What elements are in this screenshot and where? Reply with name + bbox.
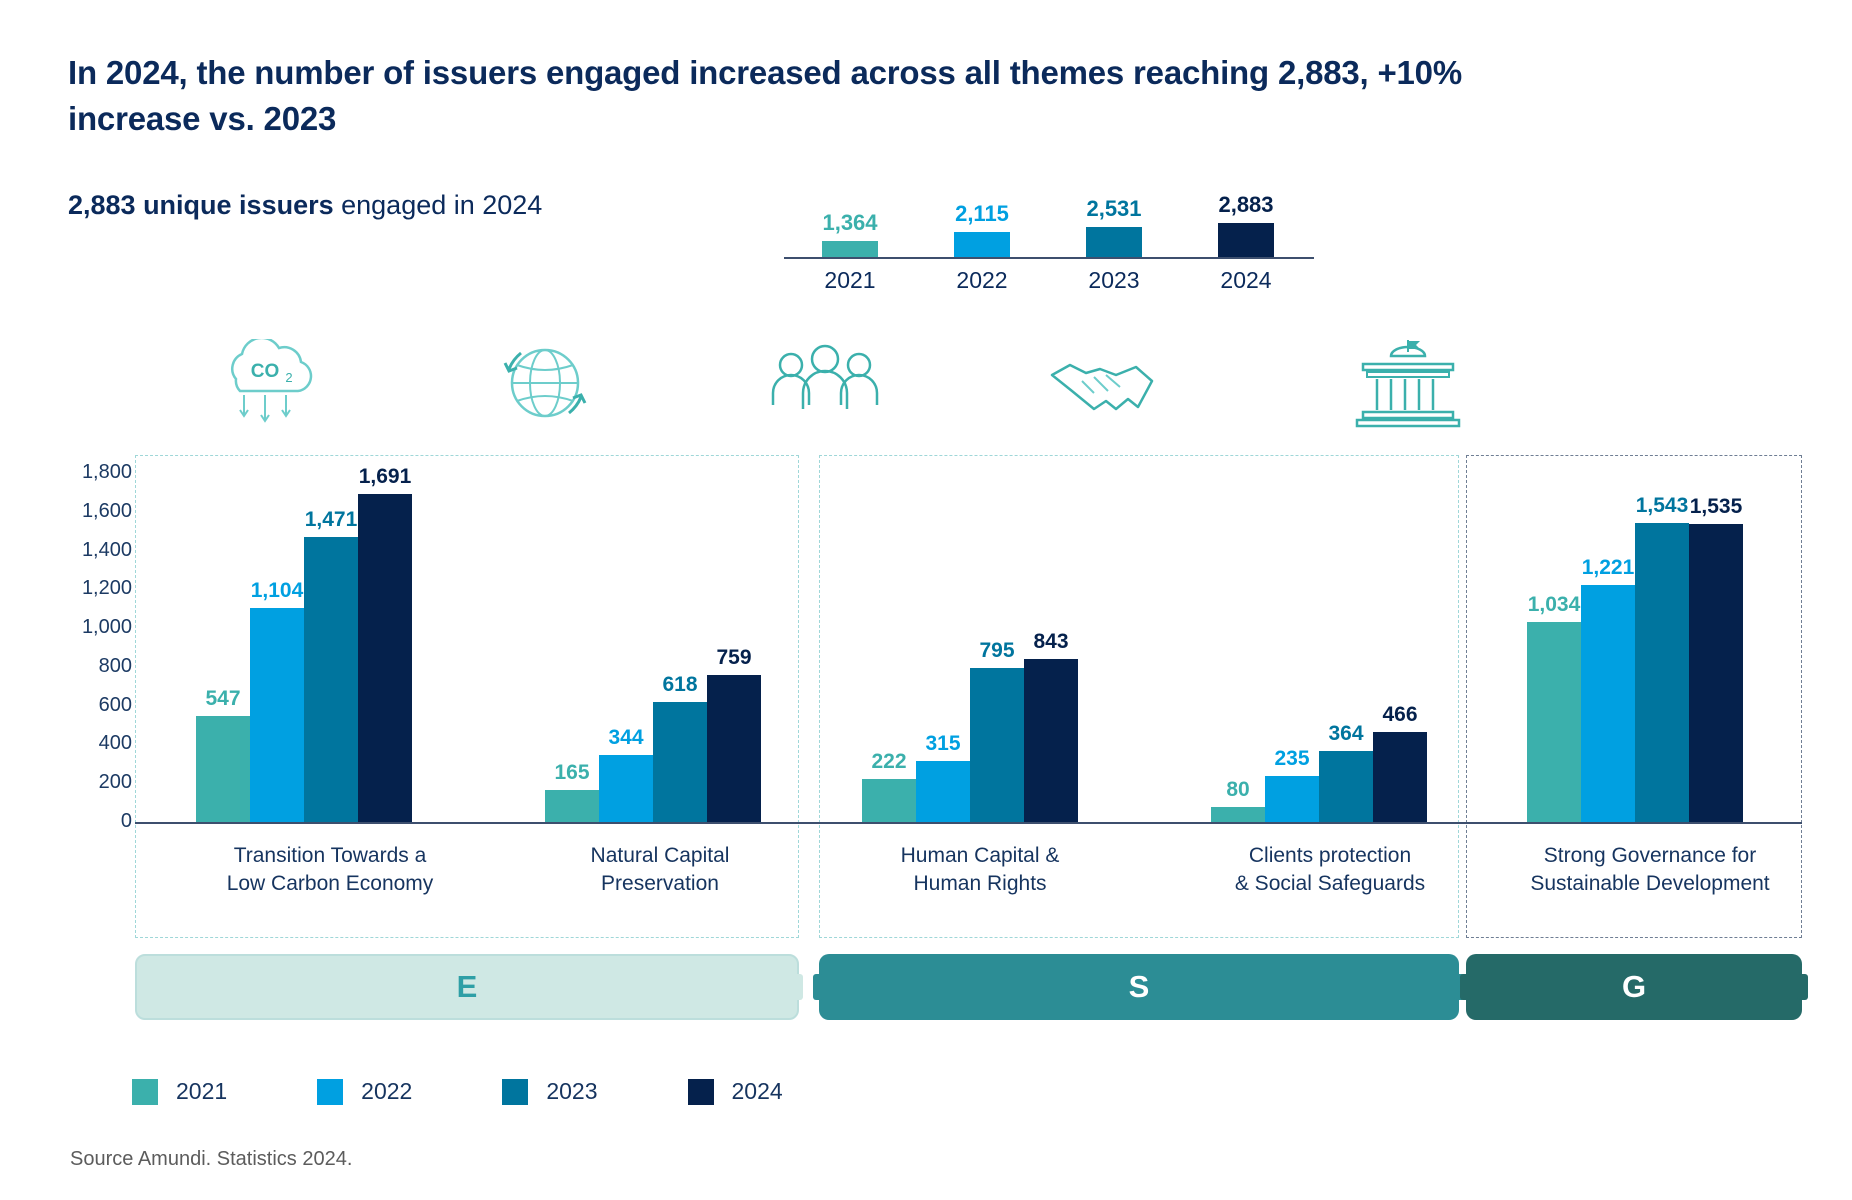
- mini-trend-chart: 1,36420212,11520222,53120232,8832024: [784, 185, 1314, 275]
- bar-value-label: 759: [716, 646, 751, 670]
- bar: [916, 761, 970, 822]
- mini-chart-axis: [784, 257, 1314, 259]
- people-group-icon: [765, 338, 885, 428]
- bar: [1265, 776, 1319, 822]
- mini-value-label: 1,364: [822, 210, 877, 236]
- mini-bar: [822, 241, 878, 257]
- bar-value-label: 1,034: [1528, 593, 1581, 617]
- category-label: Strong Governance forSustainable Develop…: [1490, 842, 1810, 899]
- bar-value-label: 344: [608, 726, 643, 750]
- bar-value-label: 1,535: [1690, 495, 1743, 519]
- handshake-icon: [1042, 338, 1162, 428]
- subtitle-highlight: 2,883 unique issuers: [68, 190, 334, 220]
- mini-year-label: 2022: [916, 267, 1048, 294]
- category-label-line: Human Rights: [820, 870, 1140, 898]
- mini-bar: [954, 232, 1010, 257]
- bar-value-label: 843: [1033, 630, 1068, 654]
- mini-col-2021: 1,364: [784, 185, 916, 257]
- banner-letter-g: G: [1622, 969, 1646, 1005]
- bar-item: 466: [1373, 703, 1427, 822]
- theme-icon-row: CO 2: [0, 338, 1852, 428]
- bar: [1024, 659, 1078, 822]
- y-tick-label: 1,600: [54, 500, 132, 523]
- mini-year-label: 2023: [1048, 267, 1180, 294]
- bar-item: 1,471: [304, 508, 358, 822]
- legend-swatch: [317, 1079, 343, 1105]
- bar: [196, 716, 250, 822]
- bar-item: 1,543: [1635, 494, 1689, 822]
- category-label-line: Clients protection: [1170, 842, 1490, 870]
- bar-item: 1,221: [1581, 556, 1635, 822]
- bar-value-label: 1,221: [1582, 556, 1635, 580]
- y-tick-label: 1,800: [54, 461, 132, 484]
- banner-notch-left: [1460, 974, 1471, 1000]
- bar: [970, 668, 1024, 822]
- y-tick-label: 1,200: [54, 577, 132, 600]
- banner-notch-left: [813, 974, 824, 1000]
- bar: [1211, 807, 1265, 823]
- bar-item: 795: [970, 639, 1024, 822]
- banner-letter-e: E: [457, 969, 478, 1005]
- category-label-line: Strong Governance for: [1490, 842, 1810, 870]
- banner-social: S: [819, 954, 1459, 1020]
- svg-text:CO: CO: [251, 361, 280, 382]
- y-tick-label: 600: [54, 694, 132, 717]
- mini-bar: [1218, 223, 1274, 257]
- y-tick-label: 400: [54, 732, 132, 755]
- bar-value-label: 1,691: [359, 465, 412, 489]
- bar-value-label: 1,104: [251, 579, 304, 603]
- bar: [653, 702, 707, 822]
- bar: [1319, 751, 1373, 822]
- bar-item: 80: [1211, 778, 1265, 823]
- bar-value-label: 547: [205, 687, 240, 711]
- mini-year-label: 2021: [784, 267, 916, 294]
- bar-value-label: 165: [554, 761, 589, 785]
- bar-value-label: 315: [925, 732, 960, 756]
- category-label-line: Preservation: [500, 870, 820, 898]
- bar-value-label: 795: [979, 639, 1014, 663]
- bar-value-label: 618: [662, 673, 697, 697]
- y-tick-label: 0: [54, 810, 132, 833]
- legend-item-2022[interactable]: 2022: [317, 1078, 412, 1105]
- svg-text:2: 2: [285, 370, 292, 385]
- legend-item-2024[interactable]: 2024: [688, 1078, 783, 1105]
- bar: [1527, 622, 1581, 822]
- page-title: In 2024, the number of issuers engaged i…: [68, 50, 1568, 141]
- legend-item-2021[interactable]: 2021: [132, 1078, 227, 1105]
- category-label: Natural CapitalPreservation: [500, 842, 820, 899]
- bar: [599, 755, 653, 822]
- legend-label: 2022: [361, 1078, 412, 1105]
- co2-cloud-icon: CO 2: [205, 338, 325, 428]
- bar-item: 165: [545, 761, 599, 822]
- bar: [358, 494, 412, 822]
- source-note: Source Amundi. Statistics 2024.: [70, 1148, 352, 1171]
- banner-letter-s: S: [1129, 969, 1150, 1005]
- banner-governance: G: [1466, 954, 1802, 1020]
- category-label-line: Natural Capital: [500, 842, 820, 870]
- bar: [1373, 732, 1427, 822]
- bar-value-label: 1,471: [305, 508, 358, 532]
- y-tick-label: 200: [54, 771, 132, 794]
- category-label-line: Transition Towards a: [150, 842, 510, 870]
- bar-item: 547: [196, 687, 250, 822]
- bar: [304, 537, 358, 822]
- chart-legend: 2021202220232024: [132, 1078, 873, 1105]
- bar-value-label: 466: [1382, 703, 1417, 727]
- bar-item: 364: [1319, 722, 1373, 822]
- bar-item: 1,691: [358, 465, 412, 822]
- bar-item: 1,034: [1527, 593, 1581, 822]
- chart-page: In 2024, the number of issuers engaged i…: [0, 0, 1852, 1200]
- mini-bar: [1086, 227, 1142, 257]
- mini-col-2024: 2,883: [1180, 185, 1312, 257]
- bar-item: 618: [653, 673, 707, 822]
- mini-col-2022: 2,115: [916, 185, 1048, 257]
- legend-label: 2021: [176, 1078, 227, 1105]
- y-tick-label: 1,400: [54, 539, 132, 562]
- mini-value-label: 2,115: [955, 201, 1009, 227]
- mini-value-label: 2,531: [1086, 196, 1141, 222]
- bar-value-label: 364: [1328, 722, 1363, 746]
- bar-item: 344: [599, 726, 653, 822]
- category-label-line: & Social Safeguards: [1170, 870, 1490, 898]
- bar-item: 1,104: [250, 579, 304, 822]
- legend-label: 2023: [546, 1078, 597, 1105]
- globe-recycle-icon: [485, 338, 605, 428]
- bar-value-label: 1,543: [1636, 494, 1689, 518]
- category-label: Clients protection& Social Safeguards: [1170, 842, 1490, 899]
- mini-col-2023: 2,531: [1048, 185, 1180, 257]
- category-label: Human Capital &Human Rights: [820, 842, 1140, 899]
- legend-item-2023[interactable]: 2023: [502, 1078, 597, 1105]
- bar-item: 315: [916, 732, 970, 822]
- bar-item: 235: [1265, 747, 1319, 822]
- government-building-icon: [1348, 338, 1468, 428]
- bar: [707, 675, 761, 822]
- bar: [545, 790, 599, 822]
- bar-value-label: 80: [1226, 778, 1249, 802]
- banner-notch-right: [1797, 974, 1808, 1000]
- mini-value-label: 2,883: [1218, 192, 1273, 218]
- bar: [1689, 524, 1743, 822]
- category-label: Transition Towards aLow Carbon Economy: [150, 842, 510, 899]
- category-label-line: Human Capital &: [820, 842, 1140, 870]
- legend-swatch: [502, 1079, 528, 1105]
- bar-item: 1,535: [1689, 495, 1743, 822]
- bar-item: 222: [862, 750, 916, 822]
- bar: [862, 779, 916, 822]
- subtitle: 2,883 unique issuers engaged in 2024: [68, 190, 542, 221]
- chart-baseline: [135, 822, 1802, 824]
- y-tick-label: 1,000: [54, 616, 132, 639]
- bar-value-label: 222: [871, 750, 906, 774]
- category-label-line: Sustainable Development: [1490, 870, 1810, 898]
- bar-item: 843: [1024, 630, 1078, 822]
- bar-item: 759: [707, 646, 761, 822]
- bar-value-label: 235: [1274, 747, 1309, 771]
- bar: [1581, 585, 1635, 822]
- banner-notch-right: [792, 974, 803, 1000]
- legend-swatch: [132, 1079, 158, 1105]
- legend-label: 2024: [732, 1078, 783, 1105]
- legend-swatch: [688, 1079, 714, 1105]
- mini-year-label: 2024: [1180, 267, 1312, 294]
- bar: [1635, 523, 1689, 822]
- bar: [250, 608, 304, 822]
- y-tick-label: 800: [54, 655, 132, 678]
- banner-environment: E: [135, 954, 799, 1020]
- subtitle-rest: engaged in 2024: [334, 190, 543, 220]
- category-label-line: Low Carbon Economy: [150, 870, 510, 898]
